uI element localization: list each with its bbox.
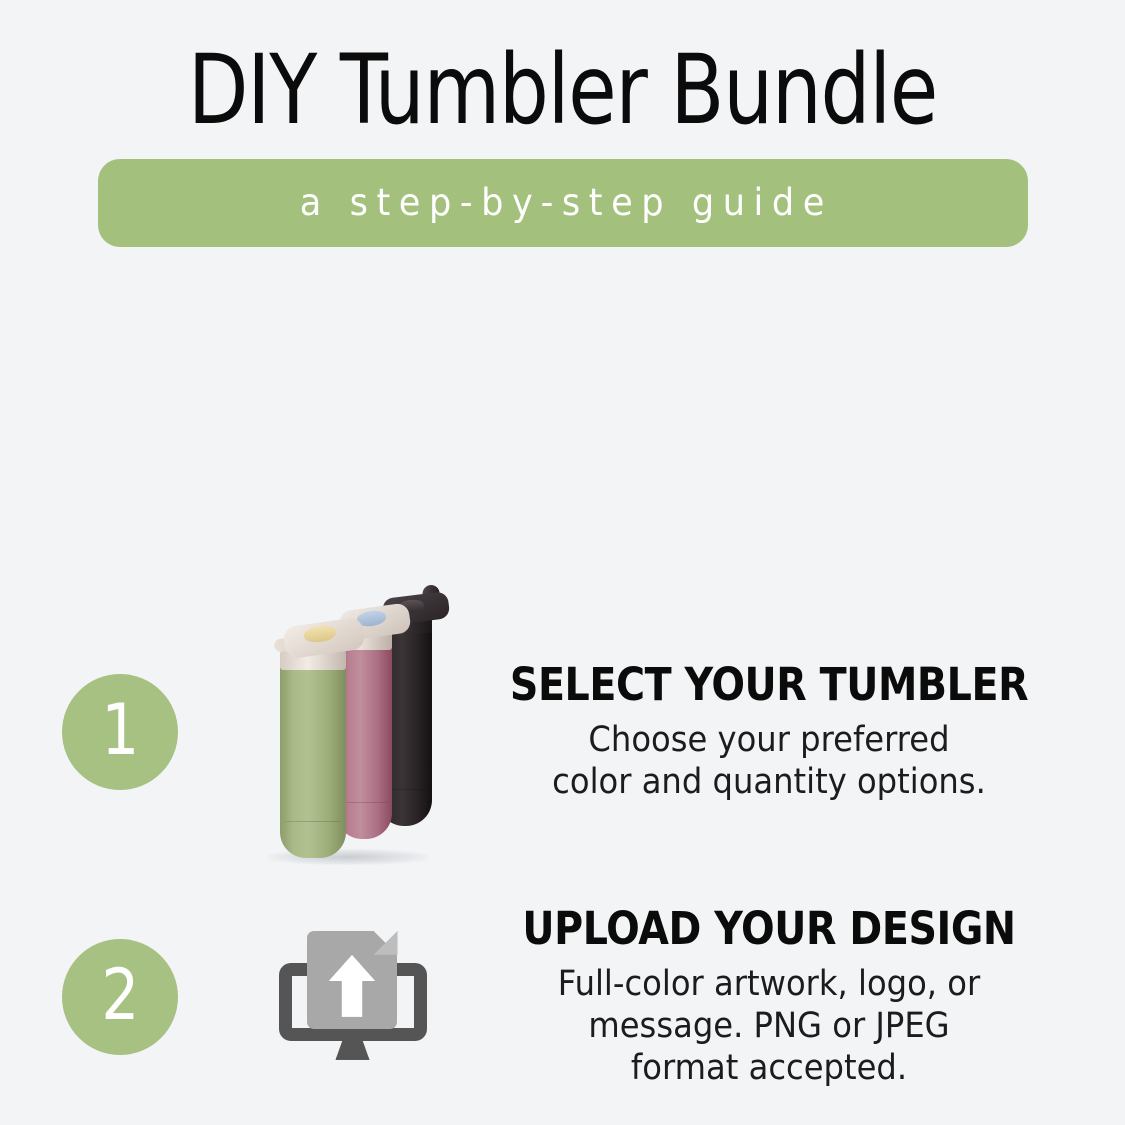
step-1-body-line-1: Choose your preferred [489, 719, 1048, 761]
step-1-icon-column [240, 599, 465, 864]
step-2-badge-column: 2 [0, 939, 240, 1055]
step-item-2: 2 UPLOAD YOUR DESIGN Full-color artwork,… [0, 867, 1125, 1125]
tumbler-green [280, 645, 346, 858]
step-2-body-line-1: Full-color artwork, logo, or [489, 963, 1048, 1005]
step-2-icon-column [240, 923, 465, 1071]
upload-monitor-icon [277, 923, 429, 1071]
monitor-stand-icon [336, 1039, 370, 1060]
subtitle-text: a step-by-step guide [292, 181, 834, 224]
step-item-1: 1 [0, 587, 1125, 877]
step-1-text-column: SELECT YOUR TUMBLER Choose your preferre… [465, 661, 1125, 803]
step-number-badge-2: 2 [62, 939, 178, 1055]
step-number-badge-1: 1 [62, 674, 178, 790]
step-1-badge-column: 1 [0, 674, 240, 790]
step-2-body: Full-color artwork, logo, or message. PN… [489, 963, 1048, 1089]
step-2-body-line-2: message. PNG or JPEG [489, 1005, 1048, 1047]
step-number-2: 2 [101, 960, 139, 1030]
page-title: DIY Tumbler Bundle [101, 42, 1024, 140]
header: DIY Tumbler Bundle a step-by-step guide [0, 0, 1125, 247]
step-1-body: Choose your preferred color and quantity… [489, 719, 1048, 803]
step-1-body-line-2: color and quantity options. [489, 761, 1048, 803]
step-1-heading: SELECT YOUR TUMBLER [501, 661, 1036, 709]
tumblers-image [250, 599, 455, 864]
subtitle-banner: a step-by-step guide [98, 159, 1028, 247]
step-number-1: 1 [101, 695, 139, 765]
step-2-heading: UPLOAD YOUR DESIGN [501, 905, 1036, 953]
step-2-text-column: UPLOAD YOUR DESIGN Full-color artwork, l… [465, 905, 1125, 1089]
step-2-body-line-3: format accepted. [489, 1047, 1048, 1089]
